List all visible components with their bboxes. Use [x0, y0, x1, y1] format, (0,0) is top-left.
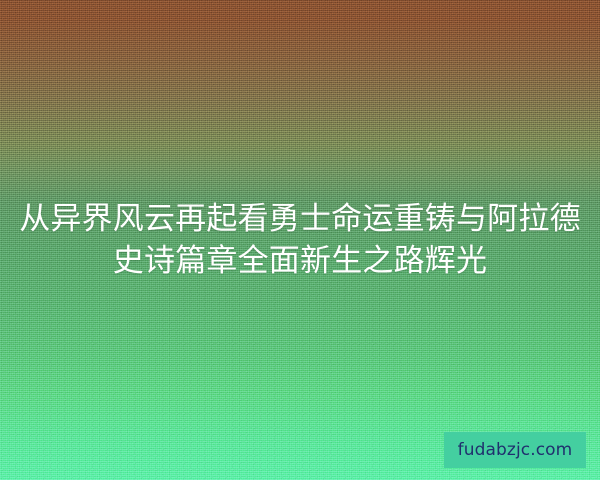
article-banner: 从异界风云再起看勇士命运重铸与阿拉德 史诗篇章全面新生之路辉光 fudabzjc…: [0, 0, 600, 480]
banner-title: 从异界风云再起看勇士命运重铸与阿拉德 史诗篇章全面新生之路辉光: [0, 198, 600, 282]
site-watermark-label: fudabzjc.com: [458, 442, 573, 459]
site-watermark-badge: fudabzjc.com: [444, 432, 586, 468]
